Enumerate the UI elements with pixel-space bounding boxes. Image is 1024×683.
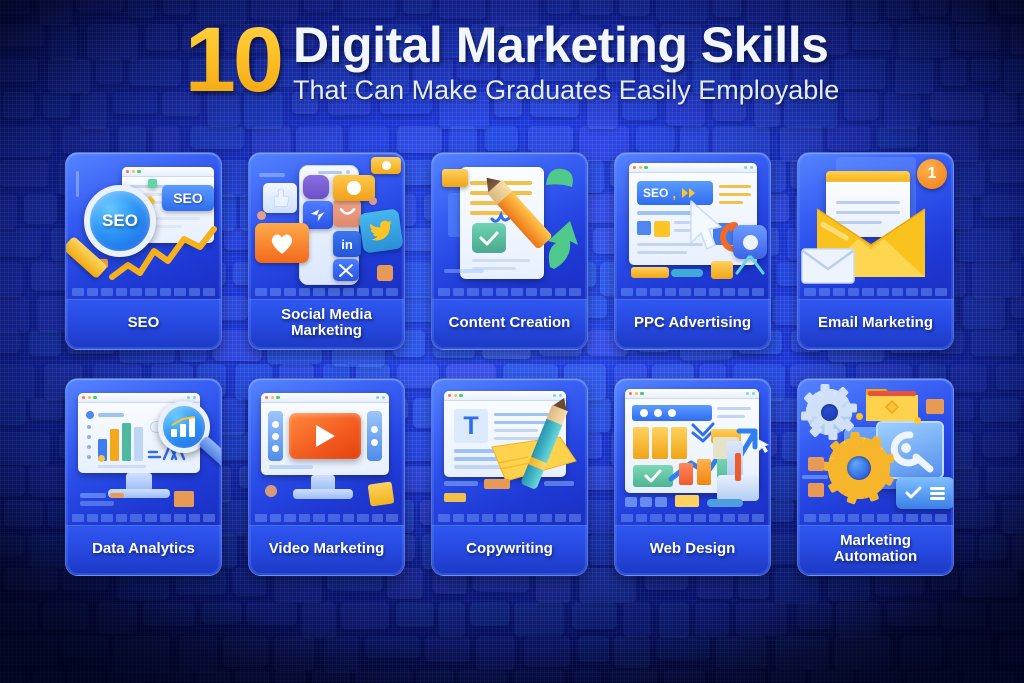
card-label-email-marketing: Email Marketing bbox=[798, 299, 953, 349]
skill-card-marketing-automation[interactable]: Marketing Automation bbox=[797, 378, 954, 576]
skill-card-content-creation[interactable]: Content Creation bbox=[431, 152, 588, 350]
letter-t-block: T bbox=[454, 409, 488, 443]
card-label-social-media-marketing: Social Media Marketing bbox=[249, 299, 404, 349]
notification-pill-orange bbox=[333, 175, 375, 201]
monitor-barchart-magnifier-icon bbox=[66, 379, 221, 525]
skill-card-seo[interactable]: SEO SEO SEO bbox=[65, 152, 222, 350]
poster-header: 10 Digital Marketing Skills That Can Mak… bbox=[0, 14, 1024, 106]
document-t-pencil-icon: T bbox=[432, 379, 587, 525]
infographic-poster: 10 Digital Marketing Skills That Can Mak… bbox=[0, 0, 1024, 683]
heart-icon bbox=[255, 223, 309, 263]
social-icon-x bbox=[333, 259, 359, 281]
card-label-marketing-automation: Marketing Automation bbox=[798, 525, 953, 575]
skill-card-email-marketing[interactable]: 1 Email Marketing bbox=[797, 152, 954, 350]
browser-layout-chart-icon bbox=[615, 379, 770, 525]
skill-card-ppc-advertising[interactable]: SEO , bbox=[614, 152, 771, 350]
headline-number: 10 bbox=[185, 14, 281, 103]
social-icon-purple bbox=[303, 175, 329, 199]
notification-pill-small bbox=[371, 157, 401, 174]
skill-card-data-analytics[interactable]: Data Analytics bbox=[65, 378, 222, 576]
thumbs-up-icon bbox=[263, 183, 297, 213]
notification-badge: 1 bbox=[917, 159, 947, 189]
skills-grid: SEO SEO SEO bbox=[65, 152, 959, 576]
linkedin-icon: in bbox=[333, 231, 361, 257]
checklist-panel[interactable] bbox=[896, 477, 953, 509]
badge-medal-icon bbox=[733, 225, 767, 259]
social-icon-peach bbox=[333, 199, 361, 227]
skill-card-social-media-marketing[interactable]: in bbox=[248, 152, 405, 350]
page-subtitle: That Can Make Graduates Easily Employabl… bbox=[293, 75, 839, 106]
green-shape bbox=[542, 163, 582, 193]
skill-card-web-design[interactable]: Web Design bbox=[614, 378, 771, 576]
monitor-play-button-icon bbox=[249, 379, 404, 525]
card-label-data-analytics: Data Analytics bbox=[66, 525, 221, 575]
smartphone-social-icons-icon: in bbox=[249, 153, 404, 299]
card-label-ppc-advertising: PPC Advertising bbox=[615, 299, 770, 349]
gears-checklist-icon bbox=[798, 379, 953, 525]
check-icon bbox=[905, 486, 922, 500]
open-envelope-icon: 1 bbox=[798, 153, 953, 299]
magnifier-lens: SEO bbox=[84, 185, 156, 257]
play-button[interactable] bbox=[289, 413, 361, 459]
gear-icon-yellow bbox=[828, 437, 890, 499]
card-label-seo: SEO bbox=[66, 299, 221, 349]
twitter-icon bbox=[358, 208, 403, 253]
card-label-copywriting: Copywriting bbox=[432, 525, 587, 575]
skill-card-video-marketing[interactable]: Video Marketing bbox=[248, 378, 405, 576]
settings-search-icon bbox=[886, 429, 936, 473]
gear-icon-blue bbox=[806, 389, 852, 435]
skill-card-copywriting[interactable]: T bbox=[431, 378, 588, 576]
browser-cursor-ad-icon: SEO , bbox=[615, 153, 770, 299]
card-label-web-design: Web Design bbox=[615, 525, 770, 575]
card-label-content-creation: Content Creation bbox=[432, 299, 587, 349]
list-icon bbox=[929, 486, 946, 500]
monitor-screen bbox=[261, 393, 389, 475]
seo-tag-chip: SEO bbox=[162, 185, 214, 211]
small-envelope-icon bbox=[800, 245, 858, 287]
green-arrow-up-icon bbox=[540, 215, 587, 271]
page-title: Digital Marketing Skills bbox=[293, 20, 839, 71]
folder-icon bbox=[864, 385, 920, 425]
card-label-video-marketing: Video Marketing bbox=[249, 525, 404, 575]
magnifier-seo-icon: SEO SEO bbox=[66, 153, 221, 299]
document-pencil-icon bbox=[432, 153, 587, 299]
